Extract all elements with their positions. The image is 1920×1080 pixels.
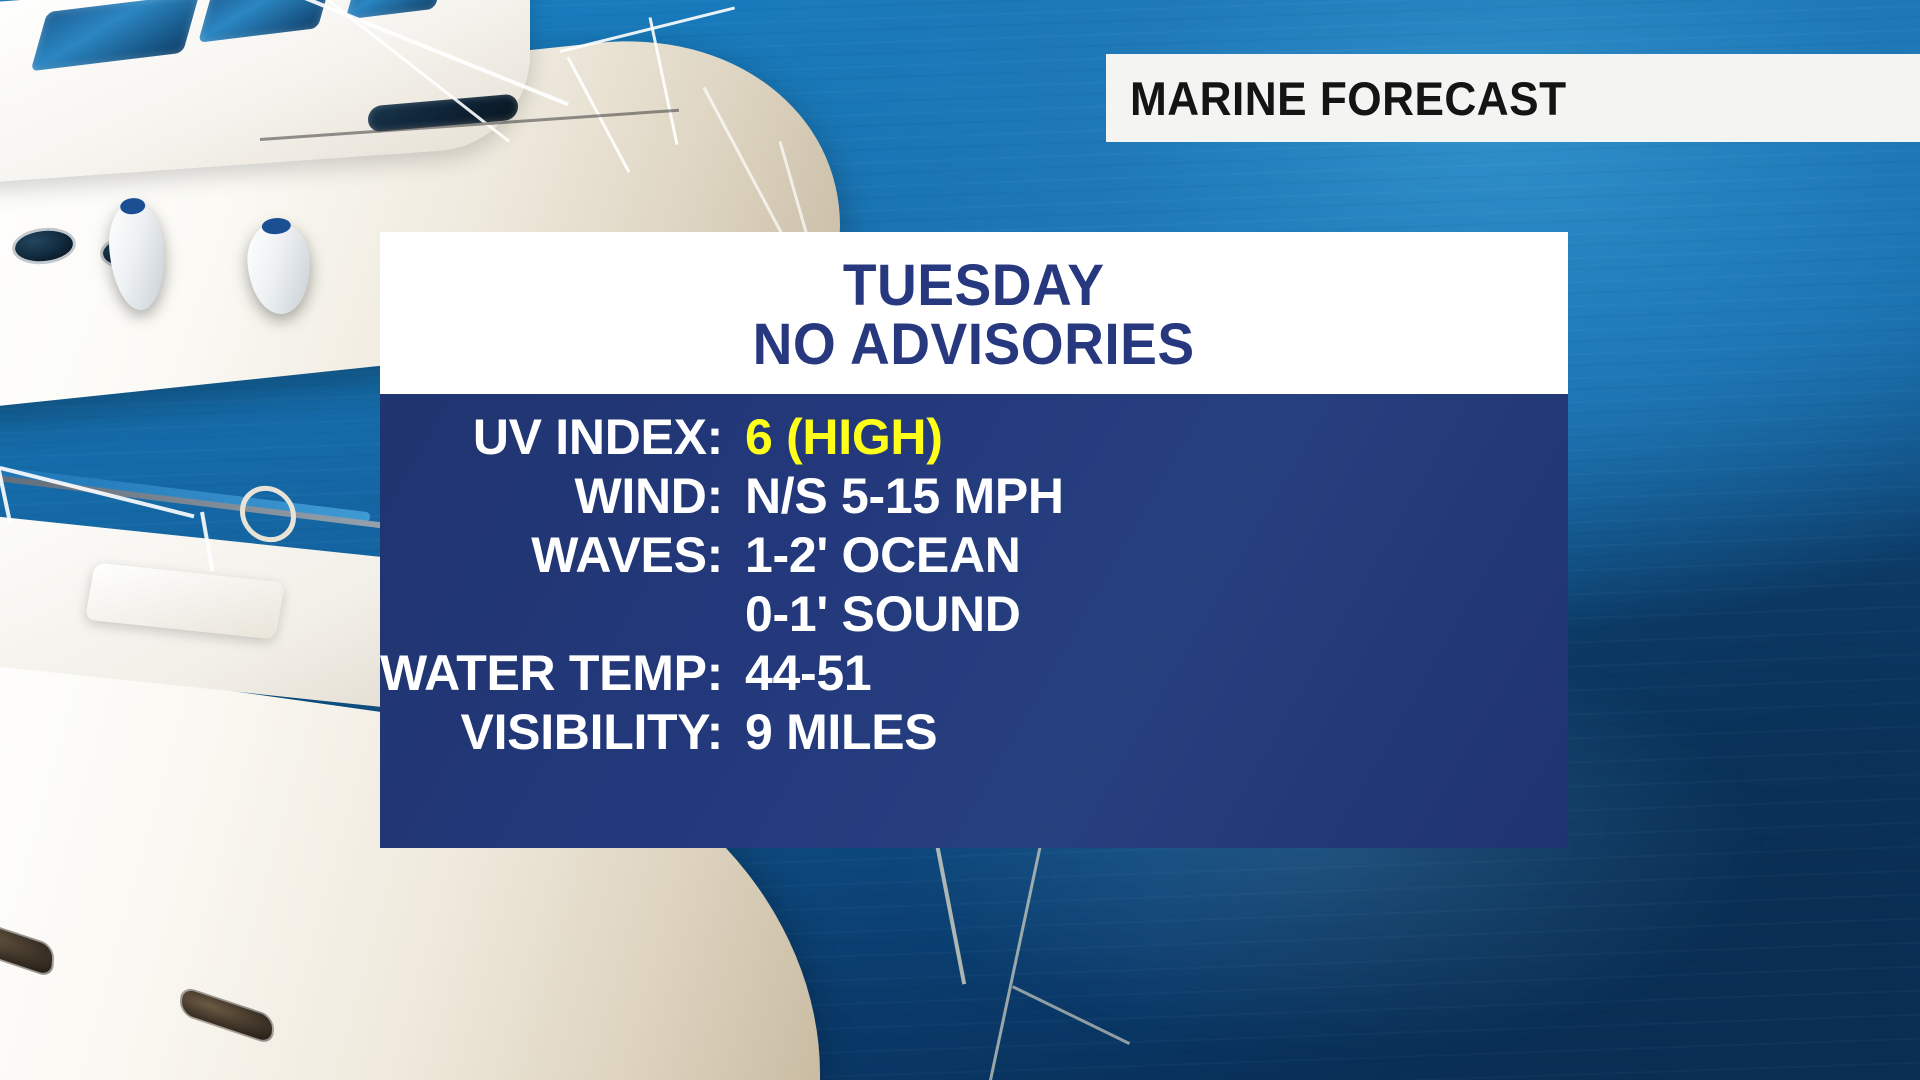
forecast-row-label: WATER TEMP: — [380, 644, 745, 703]
forecast-panel: TUESDAY NO ADVISORIES UV INDEX:6 (HIGH)W… — [380, 232, 1568, 848]
forecast-row-label: WAVES: — [380, 526, 745, 585]
forecast-row-value: 0-1' SOUND — [745, 585, 1064, 644]
forecast-row-value: N/S 5-15 MPH — [745, 467, 1064, 526]
forecast-row-label: UV INDEX: — [380, 408, 745, 467]
forecast-rows: UV INDEX:6 (HIGH)WIND:N/S 5-15 MPHWAVES:… — [380, 408, 1064, 762]
forecast-graphic: MARINE FORECAST TUESDAY NO ADVISORIES UV… — [0, 0, 1920, 1080]
banner-title: MARINE FORECAST — [1130, 71, 1567, 126]
forecast-row-value: 6 (HIGH) — [745, 408, 1064, 467]
cabin-window — [198, 0, 332, 43]
forecast-row-label: VISIBILITY: — [380, 703, 745, 762]
forecast-row-value: 44-51 — [745, 644, 1064, 703]
forecast-row-value: 9 MILES — [745, 703, 1064, 762]
forecast-row: UV INDEX:6 (HIGH) — [380, 408, 1064, 467]
forecast-row: VISIBILITY:9 MILES — [380, 703, 1064, 762]
forecast-panel-header: TUESDAY NO ADVISORIES — [380, 232, 1568, 394]
forecast-row: WATER TEMP:44-51 — [380, 644, 1064, 703]
forecast-panel-body: UV INDEX:6 (HIGH)WIND:N/S 5-15 MPHWAVES:… — [380, 394, 1568, 848]
fender-cap — [261, 217, 291, 235]
forecast-row: WIND:N/S 5-15 MPH — [380, 467, 1064, 526]
forecast-day: TUESDAY — [843, 256, 1105, 315]
cabin-window — [345, 0, 446, 20]
forecast-row: WAVES:1-2' OCEAN — [380, 526, 1064, 585]
forecast-row: 0-1' SOUND — [380, 585, 1064, 644]
hull-vent — [179, 985, 274, 1046]
marine-forecast-banner: MARINE FORECAST — [1106, 54, 1920, 142]
fender-cap — [120, 197, 146, 215]
forecast-row-label: WIND: — [380, 467, 745, 526]
forecast-row-value: 1-2' OCEAN — [745, 526, 1064, 585]
forecast-advisory-status: NO ADVISORIES — [753, 315, 1195, 374]
hull-vent — [0, 907, 55, 978]
mooring-rope-coil — [240, 483, 296, 545]
cabin-window — [31, 0, 200, 71]
